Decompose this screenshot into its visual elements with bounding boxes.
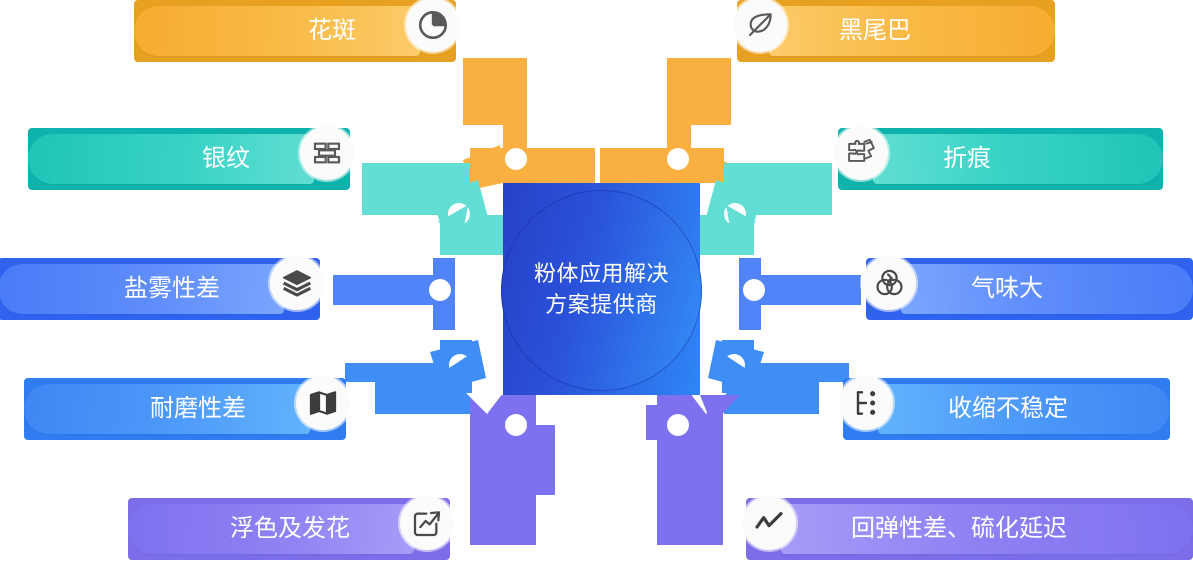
pill-body: 收缩不稳定	[878, 384, 1170, 434]
node-label: 花斑	[308, 19, 356, 43]
sitemap-icon	[839, 376, 893, 430]
leaf-icon	[733, 0, 787, 52]
center-label: 粉体应用解决 方案提供商	[503, 183, 700, 395]
node-yan-wu-xing-cha[interactable]: 盐雾性差	[0, 258, 320, 320]
node-hui-tan-xing-cha[interactable]: 回弹性差、硫化延迟	[746, 498, 1193, 560]
pill-body: 浮色及发花	[128, 504, 414, 554]
node-label: 折痕	[943, 147, 991, 171]
node-hua-ban[interactable]: 花斑	[134, 0, 456, 62]
center-label-line2: 方案提供商	[545, 289, 658, 320]
center-label-line1: 粉体应用解决	[534, 258, 669, 289]
connector-dot	[505, 148, 527, 170]
pill-body: 耐磨性差	[24, 384, 310, 434]
puzzle-icon	[834, 126, 888, 180]
infographic-diagram: 粉体应用解决 方案提供商 花斑 银纹	[0, 0, 1193, 577]
pill-body: 黑尾巴	[769, 6, 1055, 56]
node-nai-mo-xing-cha[interactable]: 耐磨性差	[24, 378, 346, 440]
node-label: 黑尾巴	[839, 19, 911, 43]
node-qi-wei-da[interactable]: 气味大	[866, 258, 1193, 320]
node-label: 收缩不稳定	[948, 397, 1068, 421]
node-zhe-hen[interactable]: 折痕	[838, 128, 1163, 190]
node-hei-wei-ba[interactable]: 黑尾巴	[737, 0, 1055, 62]
connector-dot	[667, 148, 689, 170]
node-label: 回弹性差、硫化延迟	[851, 517, 1067, 541]
node-fu-se-ji-fa-hua[interactable]: 浮色及发花	[128, 498, 450, 560]
connector-dot	[429, 279, 451, 301]
connector-dot	[505, 414, 527, 436]
pie-chart-icon	[406, 0, 460, 52]
center-node: 粉体应用解决 方案提供商	[503, 183, 700, 395]
pill-body: 气味大	[901, 264, 1193, 314]
pill-body: 银纹	[28, 134, 314, 184]
node-label: 盐雾性差	[124, 277, 220, 301]
node-label: 气味大	[971, 277, 1043, 301]
node-label: 银纹	[202, 147, 250, 171]
node-yin-wen[interactable]: 银纹	[28, 128, 350, 190]
brick-wall-icon	[300, 126, 354, 180]
pill-body: 折痕	[873, 134, 1163, 184]
connector-dot	[743, 279, 765, 301]
layers-icon	[270, 256, 324, 310]
line-chart-icon	[742, 496, 796, 550]
pill-body: 盐雾性差	[0, 264, 284, 314]
connector-dot	[667, 414, 689, 436]
recycle-icon	[862, 256, 916, 310]
pill-body: 回弹性差、硫化延迟	[781, 504, 1193, 554]
trending-up-box-icon	[400, 496, 454, 550]
node-label: 浮色及发花	[230, 517, 350, 541]
pill-body: 花斑	[134, 6, 420, 56]
node-shou-suo-bu-wen-ding[interactable]: 收缩不稳定	[843, 378, 1170, 440]
node-label: 耐磨性差	[150, 397, 246, 421]
map-icon	[296, 376, 350, 430]
